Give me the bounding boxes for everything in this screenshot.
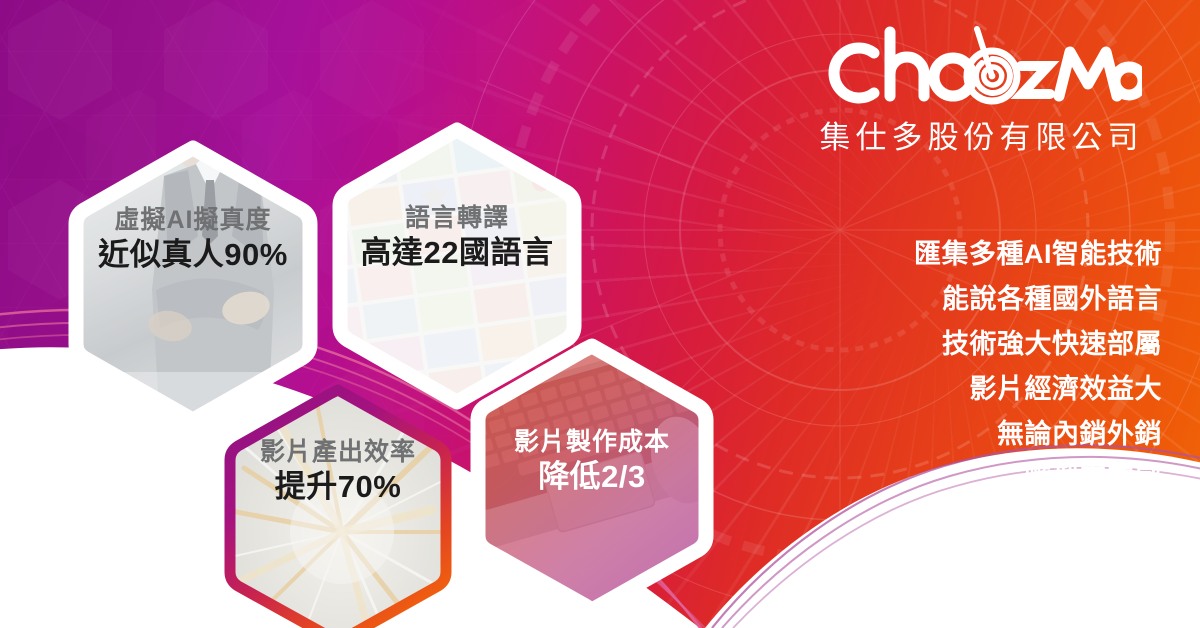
feature-item: 無論內銷外銷 bbox=[862, 412, 1162, 457]
badge-cost-shape bbox=[470, 338, 714, 618]
feature-item: 技術強大快速部屬 bbox=[862, 322, 1162, 367]
brand-logo-block: 集仕多股份有限公司 bbox=[794, 26, 1164, 156]
feature-list: 匯集多種AI智能技術 能說各種國外語言 技術強大快速部屬 影片經濟效益大 無論內… bbox=[862, 232, 1162, 502]
feature-item: 影片經濟效益大 bbox=[862, 367, 1162, 412]
badge-cost[interactable]: 影片製作成本 降低2/3 bbox=[470, 338, 714, 618]
company-name: 集仕多股份有限公司 bbox=[794, 120, 1164, 156]
badge-speed-shape bbox=[222, 382, 454, 628]
feature-item: 能說各種國外語言 bbox=[862, 277, 1162, 322]
choozmo-wordmark-logo bbox=[816, 26, 1142, 114]
feature-item: 匯集多種AI智能技術 bbox=[862, 232, 1162, 277]
banner-canvas: 集仕多股份有限公司 匯集多種AI智能技術 能說各種國外語言 技術強大快速部屬 影… bbox=[0, 0, 1200, 628]
feature-item: 嘴型真實感 bbox=[862, 457, 1162, 502]
badge-speed[interactable]: 影片產出效率 提升70% bbox=[222, 382, 454, 628]
bullseye-target-dart-icon bbox=[967, 29, 1017, 101]
